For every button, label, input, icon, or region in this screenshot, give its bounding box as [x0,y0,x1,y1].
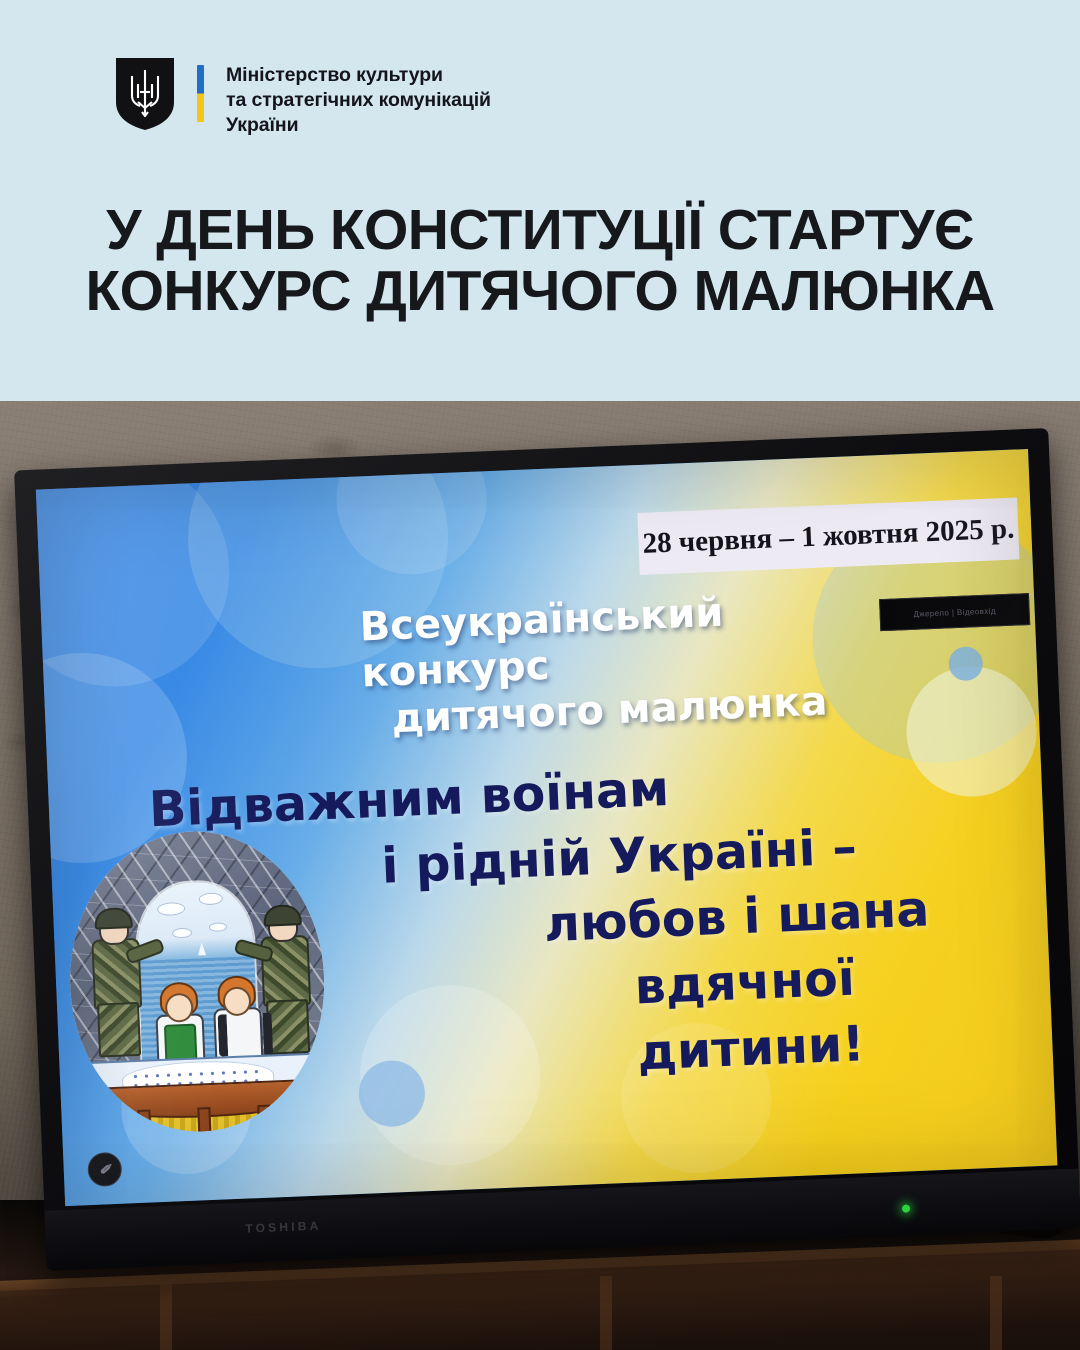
tv-screen[interactable]: 28 червня – 1 жовтня 2025 р. Джерело | В… [36,449,1058,1206]
date-badge-text: 28 червня – 1 жовтня 2025 р. [642,512,1015,560]
decorative-circle [36,452,234,691]
page-title-line-2: КОНКУРС ДИТЯЧОГО МАЛЮНКА [0,261,1080,322]
photograph: TOSHIBA [0,401,1080,1350]
page-title: У ДЕНЬ КОНСТИТУЦІЇ СТАРТУЄ КОНКУРС ДИТЯЧ… [0,200,1080,322]
drawing-cloud [209,922,227,932]
drawing-sailboat [198,942,207,955]
ukraine-trident-emblem [116,58,174,130]
soldier-legs [97,1002,141,1058]
drawing-table-leg [257,1105,271,1136]
shelf-divider [990,1276,1002,1350]
osd-overlay-text: Джерело | Відеовхід [913,606,996,618]
drawing-table-leg [137,1110,151,1137]
drawing-cloud [172,927,192,938]
osd-overlay-box[interactable]: Джерело | Відеовхід [879,593,1030,631]
drawing-soldier-left [84,912,148,1054]
soldier-body [260,935,311,1007]
slide-watermark: ✐ [87,1152,122,1187]
page-title-line-1: У ДЕНЬ КОНСТИТУЦІЇ СТАРТУЄ [0,200,1080,261]
decorative-circle [948,646,983,681]
slogan-line-4: вдячної дитини! [633,938,1040,1086]
drawing-cloud [156,902,185,916]
ministry-line-3: України [226,113,491,138]
poster-page: Міністерство культури та стратегічних ко… [0,0,1080,1350]
drawing-table-leg [197,1107,211,1137]
ministry-line-1: Міністерство культури [226,63,491,88]
ukraine-flag-bar [197,65,204,122]
child-vest [218,1012,274,1056]
contest-title-line-1: Всеукраїнський конкурс [359,590,724,697]
ministry-logo-lockup: Міністерство культури та стратегічних ко… [116,58,491,138]
drawing-cloud [198,893,222,906]
television[interactable]: TOSHIBA [14,428,1080,1270]
ministry-name: Міністерство культури та стратегічних ко… [226,63,491,138]
contest-title: Всеукраїнський конкурс дитячого малюнка [359,583,884,743]
date-badge: 28 червня – 1 жовтня 2025 р. [637,497,1019,575]
shelf-divider [160,1276,172,1350]
ministry-line-2: та стратегічних комунікацій [226,88,491,113]
presentation-slide: 28 червня – 1 жовтня 2025 р. Джерело | В… [36,449,1058,1206]
shelf-divider [600,1276,612,1350]
header-banner: Міністерство культури та стратегічних ко… [0,0,1080,401]
